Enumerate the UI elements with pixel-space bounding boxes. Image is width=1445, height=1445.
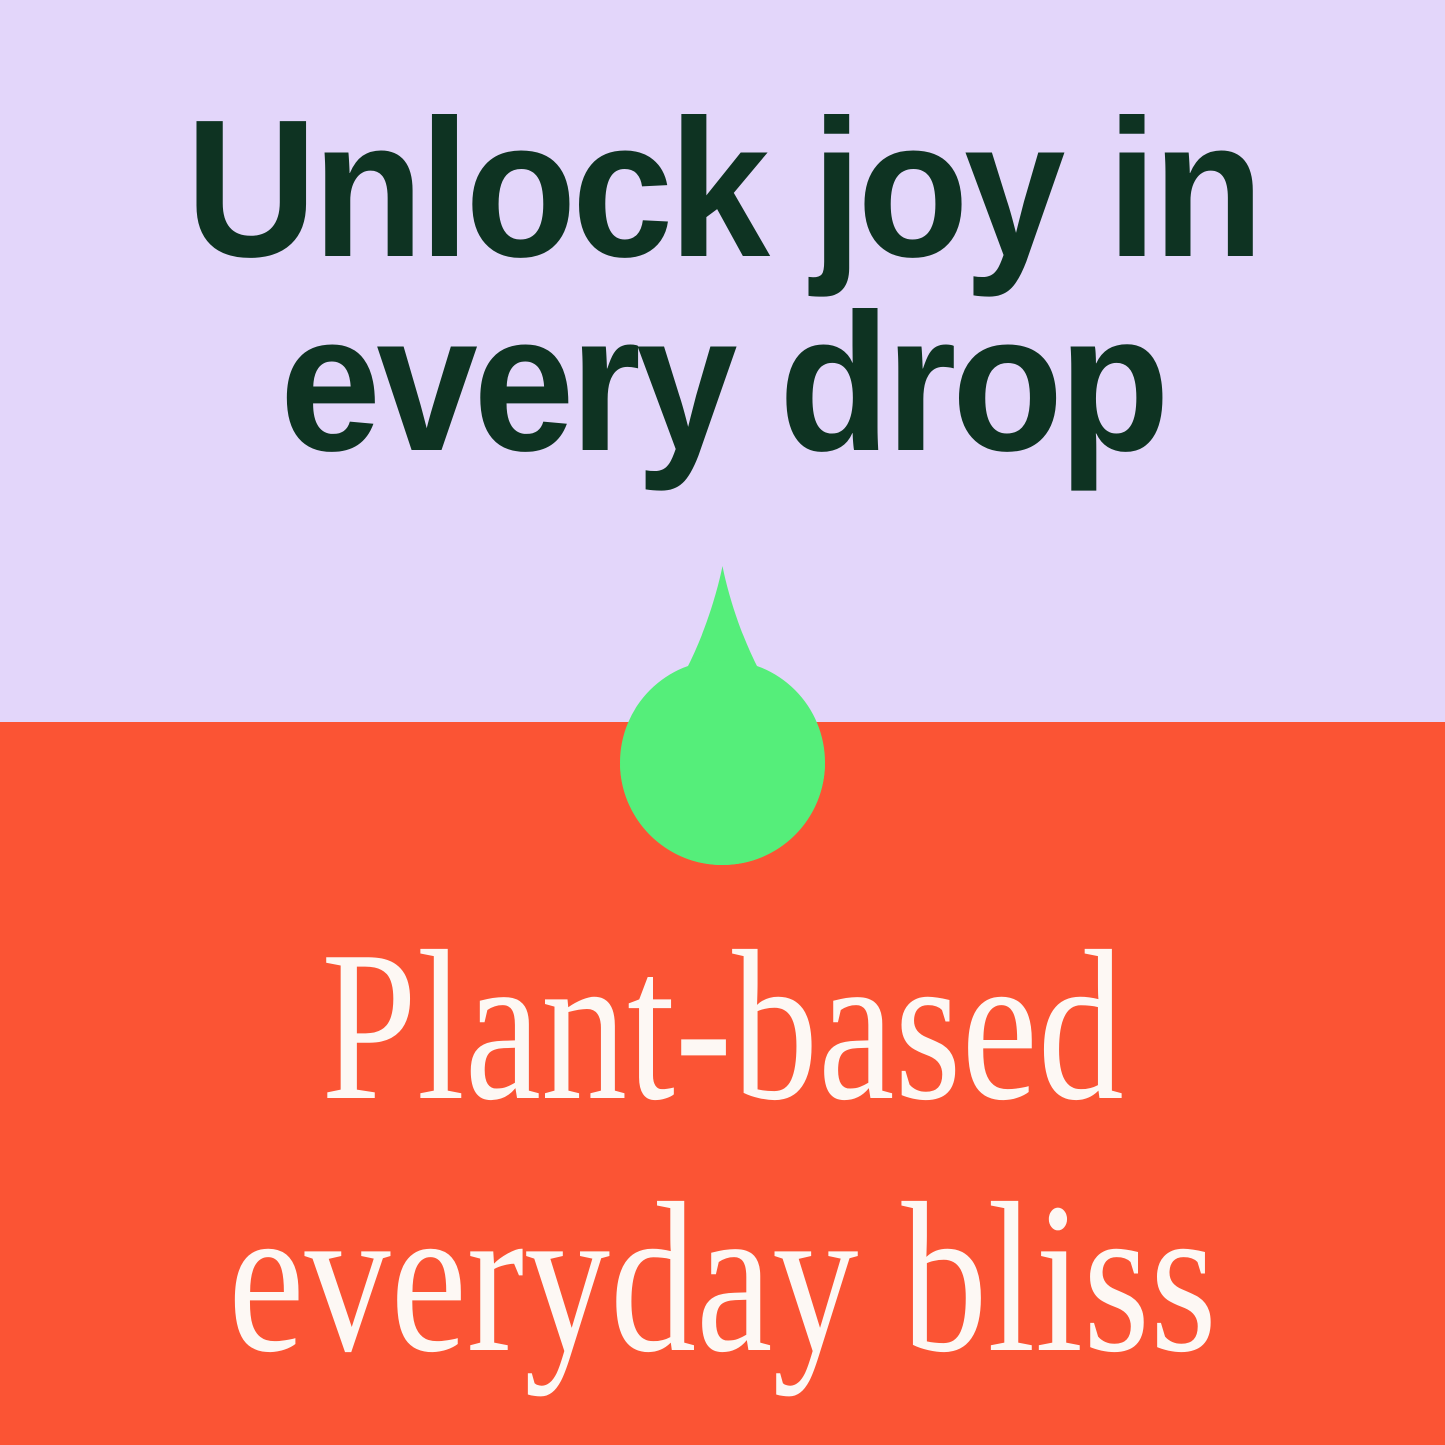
water-droplet-icon xyxy=(620,566,825,865)
promo-poster: Unlock joy in every drop Plant-based eve… xyxy=(0,0,1445,1445)
droplet-graphic xyxy=(620,566,825,865)
subhead-line-2: everyday bliss xyxy=(145,1152,1301,1404)
subhead-line-1: Plant-based xyxy=(145,900,1301,1152)
headline: Unlock joy in every drop xyxy=(51,92,1395,480)
subhead: Plant-based everyday bliss xyxy=(145,900,1301,1403)
headline-line-2: every drop xyxy=(51,286,1395,480)
headline-line-1: Unlock joy in xyxy=(51,92,1395,286)
